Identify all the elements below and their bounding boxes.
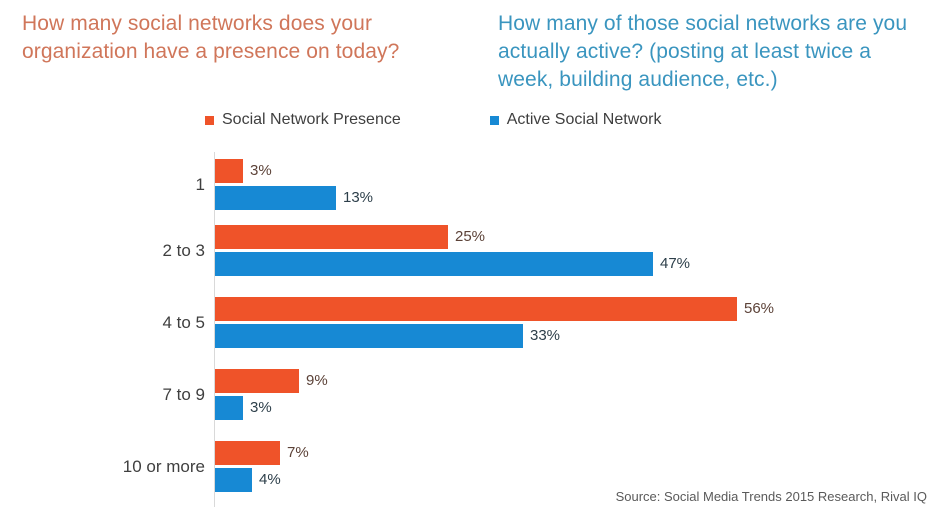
bar-active[interactable] — [215, 468, 252, 492]
bar-active[interactable] — [215, 252, 653, 276]
category-label-wrap: 1 — [0, 175, 205, 195]
bar-active[interactable] — [215, 186, 336, 210]
bar-presence[interactable] — [215, 441, 280, 465]
bar-presence[interactable] — [215, 369, 299, 393]
category-label-wrap: 2 to 3 — [0, 241, 205, 261]
bar-value-label: 7% — [287, 441, 309, 465]
bar-active[interactable] — [215, 324, 523, 348]
bar-value-label: 3% — [250, 396, 272, 420]
bar-presence[interactable] — [215, 225, 448, 249]
bar-value-label: 47% — [660, 252, 690, 276]
source-note: Source: Social Media Trends 2015 Researc… — [616, 489, 927, 504]
category-label-wrap: 4 to 5 — [0, 313, 205, 333]
bar-presence[interactable] — [215, 297, 737, 321]
chart-screenshot: How many social networks does your organ… — [0, 0, 945, 527]
bar-value-label: 4% — [259, 468, 281, 492]
plot-area: 13%13%2 to 325%47%4 to 556%33%7 to 99%3%… — [0, 0, 945, 527]
bar-value-label: 9% — [306, 369, 328, 393]
bar-value-label: 56% — [744, 297, 774, 321]
bar-value-label: 25% — [455, 225, 485, 249]
category-axis-label: 7 to 9 — [15, 385, 205, 405]
bar-value-label: 3% — [250, 159, 272, 183]
bar-value-label: 13% — [343, 186, 373, 210]
category-label-wrap: 7 to 9 — [0, 385, 205, 405]
category-label-wrap: 10 or more — [0, 457, 205, 477]
category-axis-label: 1 — [15, 175, 205, 195]
bar-value-label: 33% — [530, 324, 560, 348]
category-axis-label: 4 to 5 — [15, 313, 205, 333]
category-axis-label: 2 to 3 — [15, 241, 205, 261]
bar-active[interactable] — [215, 396, 243, 420]
category-axis-label: 10 or more — [15, 457, 205, 477]
bar-presence[interactable] — [215, 159, 243, 183]
